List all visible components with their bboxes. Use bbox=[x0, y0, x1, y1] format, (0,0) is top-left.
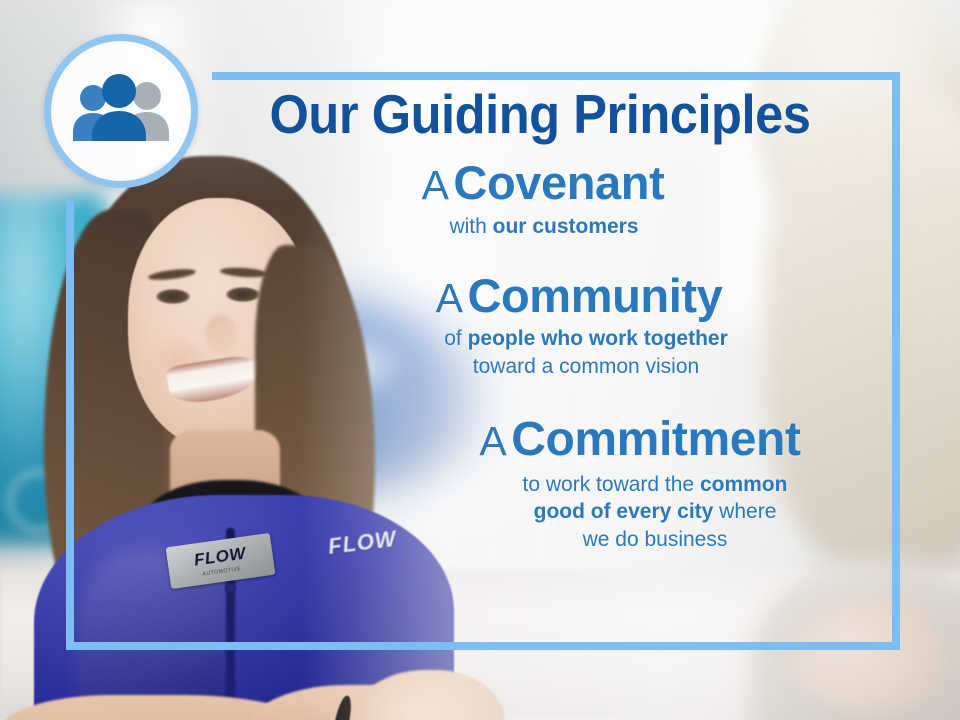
group-badge bbox=[44, 34, 198, 188]
principle-subline: toward a common vision bbox=[282, 353, 890, 381]
principle-word-3: Commitment bbox=[511, 413, 800, 466]
principle-subtext-3: to work toward the common good of every … bbox=[190, 471, 890, 554]
principle-heading-3: A Commitment bbox=[190, 415, 890, 466]
emphasis-text: common bbox=[700, 473, 788, 496]
principle-lead-1: A bbox=[422, 162, 449, 208]
principle-community: A Community of people who work together … bbox=[190, 271, 890, 381]
emphasis-text: people who work together bbox=[468, 327, 728, 350]
shirt-button bbox=[225, 582, 236, 593]
principle-subline: with our customers bbox=[198, 213, 890, 241]
regular-text: with bbox=[449, 215, 492, 238]
principle-word-1: Covenant bbox=[453, 156, 664, 209]
principle-subtext-1: with our customers bbox=[190, 213, 890, 241]
principles-content: Our Guiding Principles A Covenant with o… bbox=[190, 86, 890, 554]
principle-heading-2: A Community bbox=[190, 271, 890, 321]
principle-subline: of people who work together bbox=[282, 325, 890, 353]
regular-text: of bbox=[444, 327, 467, 350]
principle-lead-2: A bbox=[436, 275, 463, 321]
emphasis-text: our customers bbox=[493, 215, 639, 238]
principle-word-2: Community bbox=[467, 269, 722, 322]
principle-covenant: A Covenant with our customers bbox=[190, 158, 890, 241]
principle-subline: to work toward the common bbox=[420, 471, 890, 499]
regular-text: where bbox=[713, 500, 776, 523]
banner-canvas: FLOW AUTOMOTIVE FLOW bbox=[0, 0, 960, 720]
group-of-people-icon bbox=[69, 74, 173, 148]
emphasis-text: good of every city bbox=[534, 500, 714, 523]
regular-text: to work toward the bbox=[523, 473, 700, 496]
principle-subtext-2: of people who work together toward a com… bbox=[190, 325, 890, 380]
principle-lead-3: A bbox=[479, 418, 506, 464]
principle-subline: good of every city where bbox=[420, 498, 890, 526]
page-title: Our Guiding Principles bbox=[218, 86, 862, 142]
principle-heading-1: A Covenant bbox=[190, 158, 890, 208]
principle-commitment: A Commitment to work toward the common g… bbox=[190, 415, 890, 554]
principle-subline: we do business bbox=[420, 526, 890, 554]
employee-eye-left bbox=[156, 289, 190, 304]
regular-text: toward a common vision bbox=[473, 355, 699, 378]
regular-text: we do business bbox=[583, 528, 728, 551]
customer-hand bbox=[792, 600, 942, 710]
